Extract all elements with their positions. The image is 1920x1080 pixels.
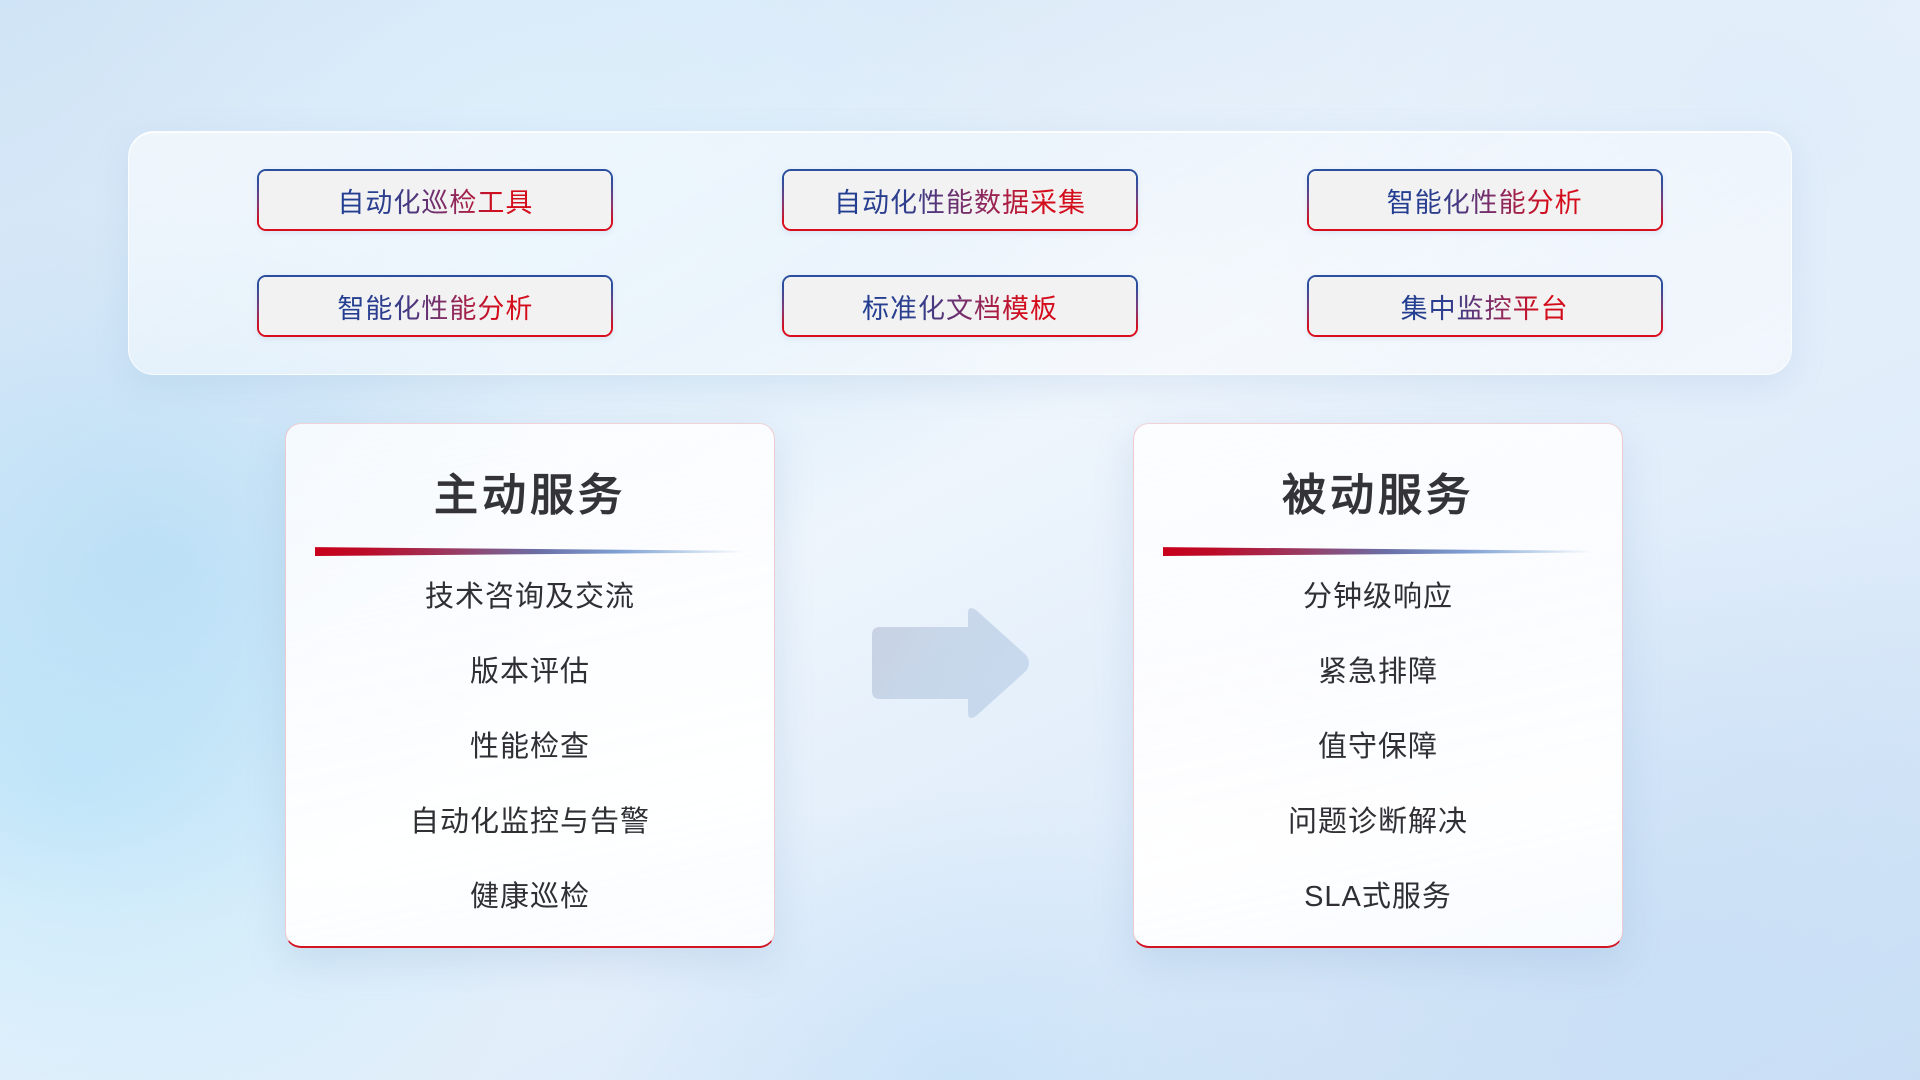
service-card-reactive: 被动服务 分钟级响应 紧急排障 值守保障 问题诊断解决 SLA式服务 <box>1133 423 1623 948</box>
capability-chip-label: 智能化性能分析 <box>1387 181 1583 220</box>
chip-inner: 集中监控平台 <box>1309 277 1661 335</box>
service-item: 版本评估 <box>286 658 774 687</box>
card-title: 主动服务 <box>286 459 774 523</box>
gradient-rule <box>315 545 745 557</box>
capability-chip[interactable]: 自动化性能数据采集 <box>782 169 1138 231</box>
capability-chip[interactable]: 自动化巡检工具 <box>257 169 613 231</box>
service-item: 紧急排障 <box>1134 658 1622 687</box>
service-item: 值守保障 <box>1134 733 1622 762</box>
service-card-proactive: 主动服务 技术咨询及交流 版本评估 性能检查 自动化监控与告警 健康巡检 <box>285 423 775 948</box>
capability-chip[interactable]: 智能化性能分析 <box>1307 169 1663 231</box>
arrow-right-icon <box>866 605 1032 721</box>
chip-inner: 标准化文档模板 <box>784 277 1136 335</box>
gradient-rule <box>1163 545 1593 557</box>
card-divider <box>315 545 745 557</box>
slide-canvas: 自动化巡检工具 自动化性能数据采集 智能化性能分析 智能化性能分析 <box>0 0 1920 1080</box>
card-title: 被动服务 <box>1134 459 1622 523</box>
chip-inner: 智能化性能分析 <box>259 277 611 335</box>
service-item: 自动化监控与告警 <box>286 808 774 837</box>
capability-chip-label: 自动化巡检工具 <box>337 181 533 220</box>
capability-chip[interactable]: 智能化性能分析 <box>257 275 613 337</box>
service-item: 性能检查 <box>286 733 774 762</box>
service-item-list: 技术咨询及交流 版本评估 性能检查 自动化监控与告警 健康巡检 <box>286 583 774 912</box>
capability-chip[interactable]: 标准化文档模板 <box>782 275 1138 337</box>
service-item: 健康巡检 <box>286 883 774 912</box>
capability-chip-label: 自动化性能数据采集 <box>834 181 1086 220</box>
capability-chip-grid: 自动化巡检工具 自动化性能数据采集 智能化性能分析 智能化性能分析 <box>129 132 1791 374</box>
capability-chip-label: 标准化文档模板 <box>862 287 1058 326</box>
capability-chip[interactable]: 集中监控平台 <box>1307 275 1663 337</box>
chip-inner: 自动化巡检工具 <box>259 171 611 229</box>
service-item: 分钟级响应 <box>1134 583 1622 612</box>
capability-chip-label: 智能化性能分析 <box>337 287 533 326</box>
service-item: 技术咨询及交流 <box>286 583 774 612</box>
capability-chip-label: 集中监控平台 <box>1401 287 1569 326</box>
chip-inner: 智能化性能分析 <box>1309 171 1661 229</box>
service-item: 问题诊断解决 <box>1134 808 1622 837</box>
card-divider <box>1163 545 1593 557</box>
capabilities-panel: 自动化巡检工具 自动化性能数据采集 智能化性能分析 智能化性能分析 <box>128 131 1792 375</box>
service-item-list: 分钟级响应 紧急排障 值守保障 问题诊断解决 SLA式服务 <box>1134 583 1622 912</box>
service-item: SLA式服务 <box>1134 883 1622 912</box>
chip-inner: 自动化性能数据采集 <box>784 171 1136 229</box>
